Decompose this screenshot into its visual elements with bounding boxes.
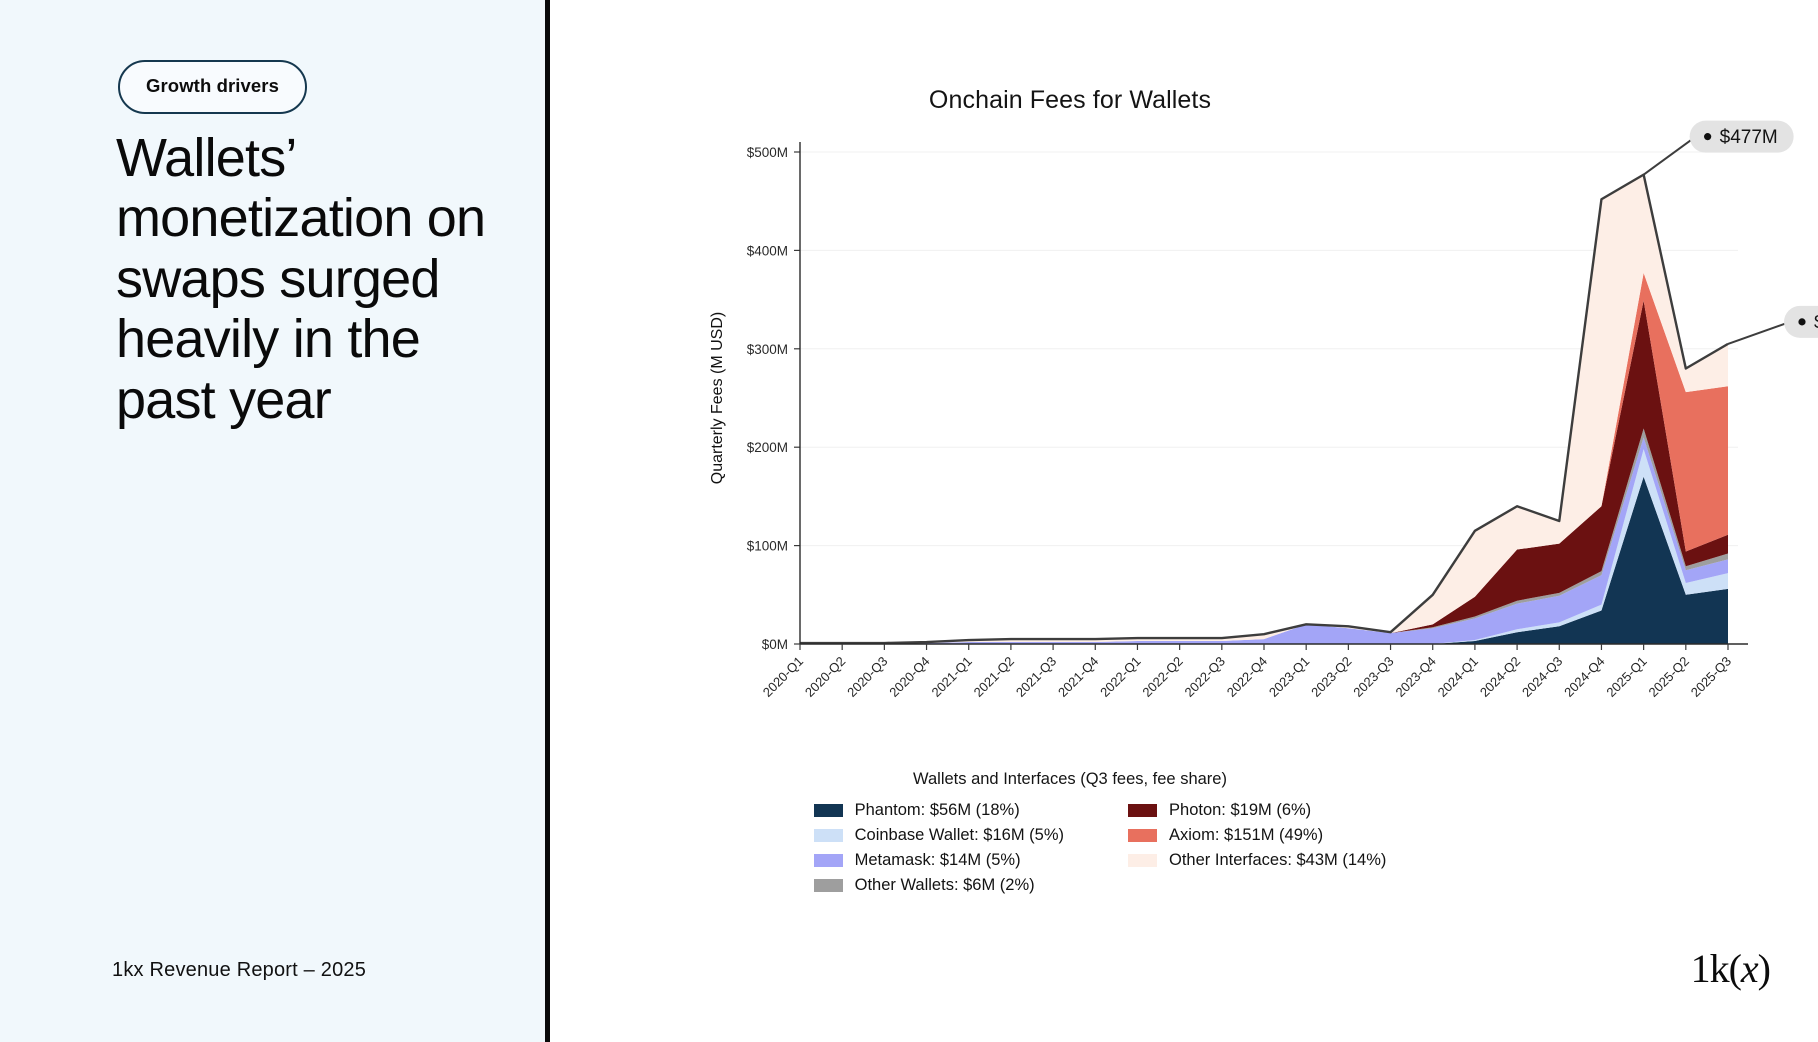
x-tick-label: 2022-Q3 (1182, 654, 1228, 700)
stacked-area-chart: $0M$100M$200M$300M$400M$500M2020-Q12020-… (550, 120, 1818, 800)
y-tick-label: $100M (747, 539, 788, 554)
report-footer-label: 1kx Revenue Report – 2025 (112, 959, 366, 982)
x-tick-label: 2023-Q2 (1308, 654, 1354, 700)
legend-label: Other Wallets: $6M (2%) (855, 876, 1035, 895)
x-tick-label: 2020-Q2 (802, 654, 848, 700)
legend-label: Metamask: $14M (5%) (855, 851, 1021, 870)
logo-suffix: ) (1758, 946, 1770, 991)
slide-root: Growth drivers Wallets’ monetization on … (0, 0, 1818, 1042)
y-tick-label: $500M (747, 145, 788, 160)
x-tick-label: 2020-Q3 (844, 654, 890, 700)
y-tick-label: $300M (747, 342, 788, 357)
x-tick-label: 2024-Q4 (1561, 654, 1607, 700)
logo-x: x (1741, 946, 1758, 991)
brand-logo: 1k(x) (1691, 945, 1770, 992)
left-panel: Growth drivers Wallets’ monetization on … (0, 0, 550, 1042)
legend-label: Coinbase Wallet: $16M (5%) (855, 826, 1064, 845)
logo-prefix: 1k( (1691, 946, 1741, 991)
x-tick-label: 2023-Q4 (1392, 654, 1438, 700)
legend-item[interactable]: Other Interfaces: $43M (14%) (1128, 849, 1386, 871)
chart-title: Onchain Fees for Wallets (550, 86, 1590, 115)
legend-swatch (814, 829, 843, 842)
legend-item[interactable]: Metamask: $14M (5%) (814, 849, 1064, 871)
x-tick-label: 2021-Q3 (1013, 654, 1059, 700)
x-tick-label: 2024-Q1 (1435, 654, 1481, 700)
legend-item[interactable]: Photon: $19M (6%) (1128, 799, 1386, 821)
y-tick-label: $400M (747, 243, 788, 258)
legend-label: Other Interfaces: $43M (14%) (1169, 851, 1386, 870)
legend-item[interactable]: Other Wallets: $6M (2%) (814, 874, 1064, 896)
x-tick-label: 2022-Q4 (1224, 654, 1270, 700)
legend-swatch (1128, 829, 1157, 842)
chart-panel: Onchain Fees for Wallets $0M$100M$200M$3… (550, 0, 1818, 1042)
y-axis-title: Quarterly Fees (M USD) (709, 312, 726, 484)
legend-swatch (1128, 804, 1157, 817)
legend-label: Phantom: $56M (18%) (855, 801, 1020, 820)
x-tick-label: 2020-Q1 (760, 654, 806, 700)
legend-label: Photon: $19M (6%) (1169, 801, 1311, 820)
section-badge: Growth drivers (118, 60, 307, 114)
x-tick-label: 2025-Q3 (1688, 654, 1734, 700)
legend-label: Axiom: $151M (49%) (1169, 826, 1323, 845)
x-tick-label: 2021-Q2 (971, 654, 1017, 700)
legend-column-wallets: Phantom: $56M (18%)Coinbase Wallet: $16M… (814, 799, 1064, 896)
x-tick-label: 2025-Q1 (1603, 654, 1649, 700)
legend-item[interactable]: Coinbase Wallet: $16M (5%) (814, 824, 1064, 846)
x-tick-label: 2025-Q2 (1646, 654, 1692, 700)
y-tick-label: $200M (747, 440, 788, 455)
legend-swatch (1128, 854, 1157, 867)
x-tick-label: 2022-Q2 (1139, 654, 1185, 700)
chart-legend: Wallets and Interfaces (Q3 fees, fee sha… (550, 770, 1590, 896)
chart-canvas: $0M$100M$200M$300M$400M$500M2020-Q12020-… (550, 120, 1818, 800)
x-tick-label: 2023-Q3 (1350, 654, 1396, 700)
legend-item[interactable]: Axiom: $151M (49%) (1128, 824, 1386, 846)
x-tick-label: 2020-Q4 (886, 654, 932, 700)
callout-label: $305M (1814, 312, 1818, 333)
x-tick-label: 2022-Q1 (1097, 654, 1143, 700)
page-title: Wallets’ monetization on swaps surged he… (116, 128, 516, 430)
data-callout: $305M (1728, 306, 1818, 344)
data-callout: $477M (1644, 121, 1794, 175)
callout-leader-line (1728, 322, 1790, 344)
legend-title: Wallets and Interfaces (Q3 fees, fee sha… (550, 770, 1590, 789)
legend-swatch (814, 804, 843, 817)
x-tick-label: 2021-Q1 (928, 654, 974, 700)
x-tick-label: 2023-Q1 (1266, 654, 1312, 700)
callout-label: $477M (1720, 127, 1778, 148)
callout-dot (1704, 133, 1711, 140)
x-tick-label: 2024-Q3 (1519, 654, 1565, 700)
legend-item[interactable]: Phantom: $56M (18%) (814, 799, 1064, 821)
x-tick-label: 2021-Q4 (1055, 654, 1101, 700)
callout-dot (1798, 318, 1805, 325)
legend-swatch (814, 854, 843, 867)
y-tick-label: $0M (762, 637, 788, 652)
area-series-group (800, 175, 1728, 644)
callout-leader-line (1644, 137, 1696, 175)
legend-swatch (814, 879, 843, 892)
x-tick-label: 2024-Q2 (1477, 654, 1523, 700)
legend-column-interfaces: Photon: $19M (6%)Axiom: $151M (49%)Other… (1128, 799, 1386, 896)
